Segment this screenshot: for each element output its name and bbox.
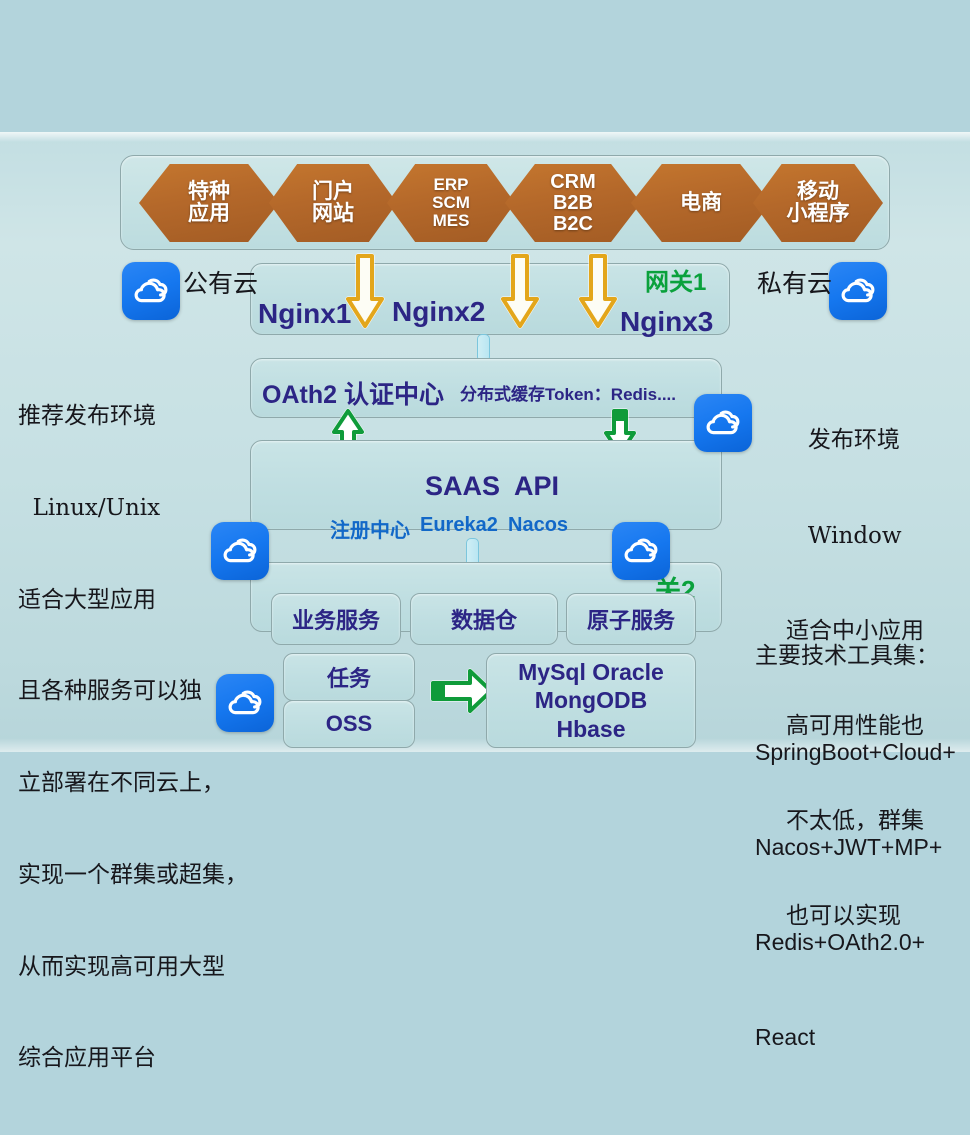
hex-line: 网站 xyxy=(312,203,354,225)
hex-line: CRM xyxy=(550,172,596,193)
gateway1-badge: 网关1 xyxy=(645,262,706,297)
left-note-line: Linux/Unix xyxy=(18,493,248,524)
nginx1-label: Nginx1 xyxy=(258,298,351,330)
left-note-line: 且各种服务可以独 xyxy=(18,676,248,707)
saas-api-title: SAAS API xyxy=(425,471,559,502)
service-datawarehouse-box[interactable]: 数据仓 xyxy=(410,593,558,645)
hex-line: ERP xyxy=(432,176,470,194)
hex-line: SCM xyxy=(432,194,470,212)
service-business-label: 业务服务 xyxy=(272,594,400,644)
token-cache-label: 分布式缓存Token：Redis.... xyxy=(460,380,676,405)
app-hex-crm[interactable]: CRMB2BB2C xyxy=(505,164,641,242)
left-note-line: 综合应用平台 xyxy=(18,1043,248,1074)
app-hex-ecommerce[interactable]: 电商 xyxy=(631,164,771,242)
tech-note: 主要技术工具集： SpringBoot+Cloud+ Nacos+JWT+MP+… xyxy=(755,578,956,1117)
gold-down-arrow-1 xyxy=(345,253,385,330)
hex-line: B2B xyxy=(550,193,596,214)
app-hex-special[interactable]: 特种应用 xyxy=(139,164,279,242)
app-hex-portal[interactable]: 门户网站 xyxy=(269,164,397,242)
database-line: MongODB xyxy=(535,686,647,714)
left-note-line: 适合大型应用 xyxy=(18,585,248,616)
service-atomic-box[interactable]: 原子服务 xyxy=(566,593,696,645)
database-line: MySql Oracle xyxy=(518,658,664,686)
task-box[interactable]: 任务 xyxy=(283,653,415,701)
tech-note-line: Redis+OAth2.0+ xyxy=(755,927,956,959)
tech-note-line: 主要技术工具集： xyxy=(755,641,956,673)
database-line: Hbase xyxy=(556,715,625,743)
hex-line: 小程序 xyxy=(787,203,850,225)
app-hex-erp[interactable]: ERPSCMMES xyxy=(387,164,515,242)
left-note-line: 实现一个群集或超集， xyxy=(18,860,248,891)
tech-note-line: Nacos+JWT+MP+ xyxy=(755,832,956,864)
left-note-line: 从而实现高可用大型 xyxy=(18,952,248,983)
green-right-arrow xyxy=(430,666,494,716)
hex-line: 特种 xyxy=(188,181,230,203)
hex-line: 电商 xyxy=(680,192,722,214)
hex-line: MES xyxy=(432,212,470,230)
task-label: 任务 xyxy=(284,654,414,700)
architecture-diagram: 特种应用 门户网站 ERPSCMMES CRMB2BB2C 电商 移动小程序 网… xyxy=(0,0,970,970)
database-box[interactable]: MySql Oracle MongODB Hbase xyxy=(486,653,696,748)
eureka-label: Eureka2 xyxy=(420,514,498,537)
hex-line: 移动 xyxy=(787,181,850,203)
service-business-box[interactable]: 业务服务 xyxy=(271,593,401,645)
gold-down-arrow-2 xyxy=(500,253,540,330)
cloud-icon-public[interactable] xyxy=(122,262,180,320)
oss-label: OSS xyxy=(284,701,414,747)
nacos-label: Nacos xyxy=(508,514,568,537)
cloud-icon-private[interactable] xyxy=(829,262,887,320)
oss-box[interactable]: OSS xyxy=(283,700,415,748)
service-atomic-label: 原子服务 xyxy=(567,594,695,644)
right-note-line: 发布环境 xyxy=(786,425,924,457)
nginx3-label: Nginx3 xyxy=(620,306,713,338)
hex-line: 门户 xyxy=(312,181,354,203)
tech-note-line: SpringBoot+Cloud+ xyxy=(755,737,956,769)
right-note-line: Window xyxy=(786,521,924,553)
nginx2-label: Nginx2 xyxy=(392,296,485,328)
registry-label: 注册中心 xyxy=(330,514,410,543)
private-cloud-label: 私有云 xyxy=(757,264,832,300)
left-note-line: 推荐发布环境 xyxy=(18,401,248,432)
service-datawarehouse-label: 数据仓 xyxy=(411,594,557,644)
application-layer-container: 特种应用 门户网站 ERPSCMMES CRMB2BB2C 电商 移动小程序 xyxy=(120,155,890,250)
app-hex-mobile[interactable]: 移动小程序 xyxy=(753,164,883,242)
tech-note-line: React xyxy=(755,1022,956,1054)
left-note: 推荐发布环境 Linux/Unix 适合大型应用 且各种服务可以独 立部署在不同… xyxy=(18,340,248,1135)
hex-line: 应用 xyxy=(188,203,230,225)
left-note-line: 立部署在不同云上， xyxy=(18,768,248,799)
oauth2-title: OAth2 认证中心 xyxy=(262,375,444,411)
public-cloud-label: 公有云 xyxy=(183,264,258,300)
gold-down-arrow-3 xyxy=(578,253,618,330)
hex-line: B2C xyxy=(550,214,596,235)
cloud-icon-gateway2[interactable] xyxy=(612,522,670,580)
cloud-icon-auth-right[interactable] xyxy=(694,394,752,452)
